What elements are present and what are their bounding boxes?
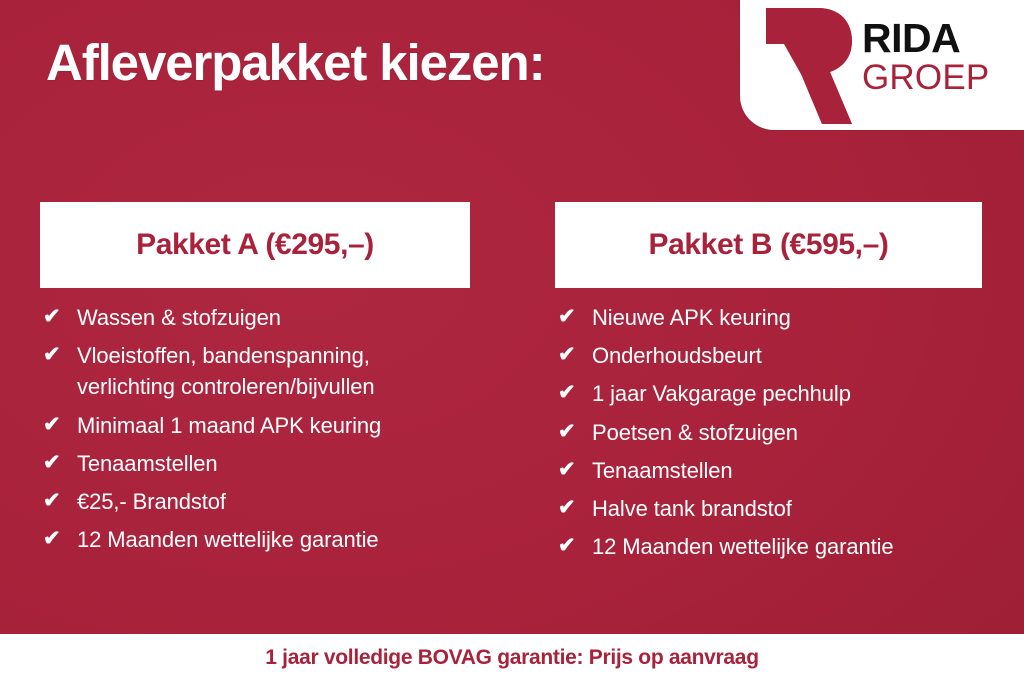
- feature-label: Wassen & stofzuigen: [77, 302, 470, 333]
- package-card-b[interactable]: Pakket B (€595,–) ✔Nieuwe APK keuring✔On…: [555, 202, 982, 570]
- feature-label: Onderhoudsbeurt: [592, 340, 982, 371]
- feature-item: ✔Wassen & stofzuigen: [40, 302, 470, 333]
- package-a-header: Pakket A (€295,–): [40, 202, 470, 288]
- feature-label: Poetsen & stofzuigen: [592, 417, 982, 448]
- feature-item: ✔€25,- Brandstof: [40, 486, 470, 517]
- feature-item: ✔Onderhoudsbeurt: [555, 340, 982, 371]
- feature-item: ✔Nieuwe APK keuring: [555, 302, 982, 333]
- footer-banner: 1 jaar volledige BOVAG garantie: Prijs o…: [0, 634, 1024, 682]
- feature-label: Minimaal 1 maand APK keuring: [77, 410, 470, 441]
- feature-item: ✔12 Maanden wettelijke garantie: [555, 531, 982, 562]
- feature-label: Nieuwe APK keuring: [592, 302, 982, 333]
- package-a-title: Pakket A (€295,–): [136, 228, 374, 262]
- brand-name-primary: RIDA: [862, 18, 1022, 58]
- check-icon: ✔: [40, 486, 73, 516]
- feature-item: ✔Halve tank brandstof: [555, 493, 982, 524]
- check-icon: ✔: [555, 531, 588, 561]
- feature-item: ✔Poetsen & stofzuigen: [555, 417, 982, 448]
- package-b-feature-list: ✔Nieuwe APK keuring✔Onderhoudsbeurt✔1 ja…: [555, 288, 982, 563]
- feature-label: 12 Maanden wettelijke garantie: [77, 524, 470, 555]
- rida-r-monogram-icon: [762, 6, 854, 126]
- feature-item: ✔Minimaal 1 maand APK keuring: [40, 410, 470, 441]
- feature-item: ✔Tenaamstellen: [40, 448, 470, 479]
- page-title: Afleverpakket kiezen:: [46, 36, 544, 90]
- package-b-title: Pakket B (€595,–): [648, 228, 888, 262]
- check-icon: ✔: [40, 410, 73, 440]
- package-a-feature-list: ✔Wassen & stofzuigen✔Vloeistoffen, bande…: [40, 288, 470, 556]
- feature-label: €25,- Brandstof: [77, 486, 470, 517]
- check-icon: ✔: [40, 524, 73, 554]
- check-icon: ✔: [555, 340, 588, 370]
- feature-label: Vloeistoffen, bandenspanning, verlichtin…: [77, 340, 470, 402]
- feature-label: Tenaamstellen: [592, 455, 982, 486]
- check-icon: ✔: [555, 455, 588, 485]
- package-card-a[interactable]: Pakket A (€295,–) ✔Wassen & stofzuigen✔V…: [40, 202, 470, 563]
- brand-name-secondary: GROEP: [862, 60, 1022, 97]
- check-icon: ✔: [555, 417, 588, 447]
- promo-poster: Afleverpakket kiezen: RIDA GROEP Pakket …: [0, 0, 1024, 682]
- feature-label: 1 jaar Vakgarage pechhulp: [592, 378, 982, 409]
- feature-item: ✔Vloeistoffen, bandenspanning, verlichti…: [40, 340, 470, 402]
- check-icon: ✔: [40, 302, 73, 332]
- check-icon: ✔: [555, 378, 588, 408]
- check-icon: ✔: [40, 340, 73, 370]
- check-icon: ✔: [40, 448, 73, 478]
- package-columns: Pakket A (€295,–) ✔Wassen & stofzuigen✔V…: [0, 202, 1024, 622]
- feature-item: ✔Tenaamstellen: [555, 455, 982, 486]
- brand-logo-panel: RIDA GROEP: [740, 0, 1024, 130]
- feature-label: 12 Maanden wettelijke garantie: [592, 531, 982, 562]
- brand-wordmark: RIDA GROEP: [862, 18, 1022, 97]
- check-icon: ✔: [555, 493, 588, 523]
- package-b-header: Pakket B (€595,–): [555, 202, 982, 288]
- check-icon: ✔: [555, 302, 588, 332]
- feature-item: ✔1 jaar Vakgarage pechhulp: [555, 378, 982, 409]
- feature-label: Tenaamstellen: [77, 448, 470, 479]
- feature-item: ✔12 Maanden wettelijke garantie: [40, 524, 470, 555]
- footer-text: 1 jaar volledige BOVAG garantie: Prijs o…: [265, 646, 758, 670]
- feature-label: Halve tank brandstof: [592, 493, 982, 524]
